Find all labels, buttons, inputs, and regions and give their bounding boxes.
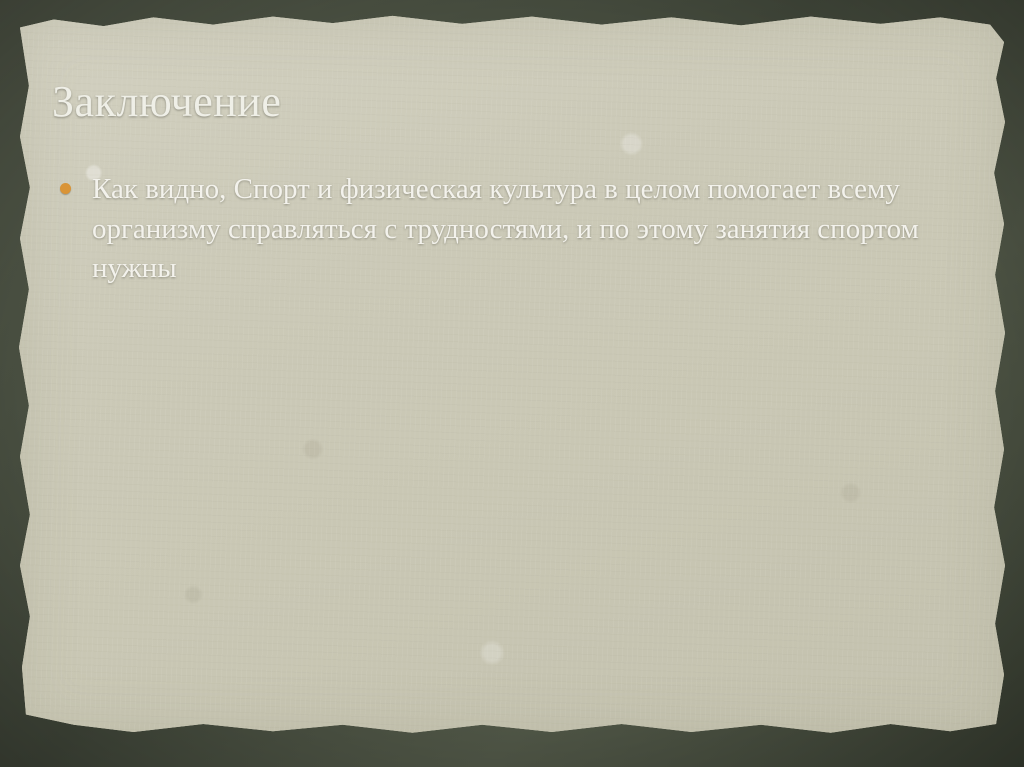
slide-content: Заключение Как видно, Спорт и физическая… (0, 0, 1024, 767)
bullet-dot-icon (60, 183, 71, 194)
bullet-list: Как видно, Спорт и физическая культура в… (52, 170, 952, 289)
bullet-text: Как видно, Спорт и физическая культура в… (92, 173, 919, 284)
slide: Заключение Как видно, Спорт и физическая… (0, 0, 1024, 767)
slide-title: Заключение (52, 78, 281, 126)
list-item: Как видно, Спорт и физическая культура в… (52, 170, 952, 289)
